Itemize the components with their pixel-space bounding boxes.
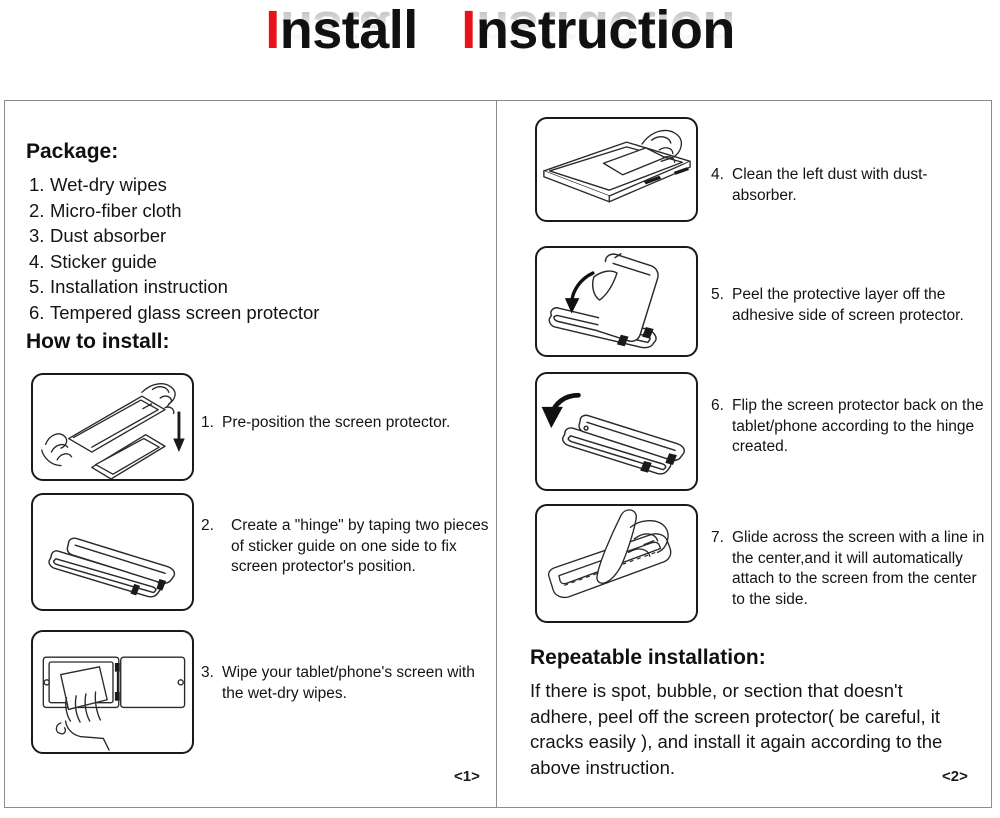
- step-4-description: Clean the left dust with dust-absorber.: [732, 165, 986, 206]
- title-banner: Install Instruction Install Instruction: [0, 0, 1000, 96]
- step-2-figure: [31, 493, 194, 611]
- install-step-1: 1. Pre-position the screen protector.: [31, 373, 491, 488]
- title-reflection: Install Instruction: [0, 2, 1000, 58]
- reflection-word-1-capital: I: [265, 0, 280, 60]
- reflection-word-2-rest: nstruction: [476, 0, 735, 60]
- package-item-label: Dust absorber: [50, 225, 166, 246]
- install-step-7: 7. Glide across the screen with a line i…: [535, 504, 985, 628]
- step-5-text: 5. Peel the protective layer off the adh…: [711, 285, 991, 326]
- package-item-number: 3.: [29, 223, 50, 249]
- list-item: 6.Tempered glass screen protector: [29, 300, 319, 326]
- reflection-word-2-capital: I: [461, 0, 476, 60]
- step-2-text: 2. Create a "hinge" by taping two pieces…: [201, 516, 496, 578]
- install-step-5: 5. Peel the protective layer off the adh…: [535, 246, 985, 362]
- repeatable-installation-heading: Repeatable installation:: [530, 646, 970, 670]
- install-step-2: 2. Create a "hinge" by taping two pieces…: [31, 493, 491, 617]
- down-arrow-icon: [173, 412, 185, 452]
- step-1-text: 1. Pre-position the screen protector.: [201, 413, 491, 434]
- list-item: 2.Micro-fiber cloth: [29, 198, 319, 224]
- list-item: 3.Dust absorber: [29, 223, 319, 249]
- step-3-figure: [31, 630, 194, 754]
- flip-protector-back-icon: [537, 374, 696, 489]
- repeatable-installation-section: Repeatable installation: If there is spo…: [530, 646, 970, 780]
- step-1-figure: [31, 373, 194, 481]
- list-item: 5.Installation instruction: [29, 274, 319, 300]
- install-step-3: 3. Wipe your tablet/phone's screen with …: [31, 630, 491, 760]
- package-item-number: 4.: [29, 249, 50, 275]
- how-to-install-heading: How to install:: [26, 330, 170, 354]
- step-5-description: Peel the protective layer off the adhesi…: [732, 285, 991, 326]
- protector-hinged-with-tape-icon: [33, 495, 192, 609]
- hand-wiping-screen-icon: [33, 632, 192, 752]
- step-4-figure: [535, 117, 698, 222]
- step-7-number: 7.: [711, 528, 724, 549]
- reflection-word-1-rest: nstall: [280, 0, 418, 60]
- package-item-label: Micro-fiber cloth: [50, 200, 182, 221]
- list-item: 4.Sticker guide: [29, 249, 319, 275]
- list-item: 1.Wet-dry wipes: [29, 172, 319, 198]
- step-4-number: 4.: [711, 165, 724, 186]
- step-3-description: Wipe your tablet/phone's screen with the…: [222, 663, 496, 704]
- step-2-description: Create a "hinge" by taping two pieces of…: [231, 516, 496, 578]
- package-item-label: Installation instruction: [50, 276, 228, 297]
- step-6-description: Flip the screen protector back on the ta…: [732, 396, 989, 458]
- install-step-4: 4. Clean the left dust with dust-absorbe…: [535, 117, 985, 227]
- step-6-number: 6.: [711, 396, 724, 417]
- step-2-number: 2.: [201, 516, 214, 537]
- package-item-number: 1.: [29, 172, 50, 198]
- repeatable-installation-body: If there is spot, bubble, or section tha…: [530, 678, 970, 780]
- step-6-text: 6. Flip the screen protector back on the…: [711, 396, 989, 458]
- package-item-label: Tempered glass screen protector: [50, 302, 319, 323]
- flip-arrow-head: [542, 407, 563, 428]
- peel-protective-layer-icon: [537, 248, 696, 355]
- hands-placing-protector-over-phone-icon: [33, 375, 192, 479]
- package-item-number: 2.: [29, 198, 50, 224]
- package-list: 1.Wet-dry wipes 2.Micro-fiber cloth 3.Du…: [29, 172, 319, 325]
- step-3-text: 3. Wipe your tablet/phone's screen with …: [201, 663, 496, 704]
- step-4-text: 4. Clean the left dust with dust-absorbe…: [711, 165, 986, 206]
- hand-using-dust-absorber-icon: [537, 119, 696, 220]
- peel-arrow-icon: [572, 273, 593, 302]
- step-6-figure: [535, 372, 698, 491]
- finger-gliding-center-line-icon: [537, 506, 696, 621]
- package-item-number: 6.: [29, 300, 50, 326]
- step-7-description: Glide across the screen with a line in t…: [732, 528, 991, 610]
- package-item-label: Wet-dry wipes: [50, 174, 167, 195]
- step-7-figure: [535, 504, 698, 623]
- step-5-figure: [535, 246, 698, 357]
- package-item-number: 5.: [29, 274, 50, 300]
- step-5-number: 5.: [711, 285, 724, 306]
- reflection-space: [432, 0, 447, 60]
- left-page: Package: 1.Wet-dry wipes 2.Micro-fiber c…: [4, 100, 496, 808]
- step-1-description: Pre-position the screen protector.: [222, 413, 491, 434]
- step-1-number: 1.: [201, 413, 214, 434]
- page-marker-left: <1>: [454, 768, 480, 785]
- step-7-text: 7. Glide across the screen with a line i…: [711, 528, 991, 610]
- package-item-label: Sticker guide: [50, 251, 157, 272]
- install-step-6: 6. Flip the screen protector back on the…: [535, 372, 985, 496]
- right-page: 4. Clean the left dust with dust-absorbe…: [497, 100, 992, 808]
- step-3-number: 3.: [201, 663, 214, 684]
- package-heading: Package:: [26, 140, 118, 164]
- page-marker-right: <2>: [942, 768, 968, 785]
